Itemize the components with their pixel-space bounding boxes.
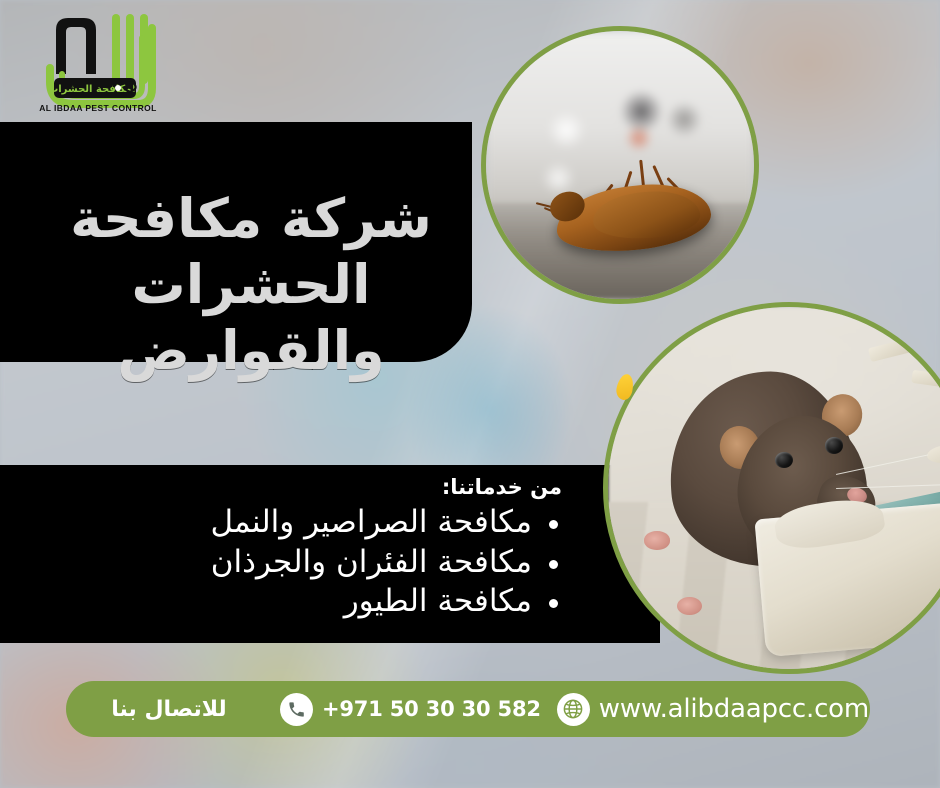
company-logo[interactable]: لمكافحة الحشرات AL IBDAA PEST CONTROL	[26, 8, 170, 120]
list-item: مكافحة الطيور	[0, 582, 562, 622]
logo-arabic-subtitle: لمكافحة الحشرات	[48, 84, 136, 95]
services-heading: من خدماتنا:	[0, 475, 598, 499]
cockroach-photo-circle	[481, 26, 759, 304]
services-content: من خدماتنا: مكافحة الصراصير والنمل مكافح…	[0, 465, 620, 643]
website-url: www.alibdaapcc.com	[599, 694, 869, 724]
phone-number: +971 50 30 30 582	[322, 697, 541, 721]
phone-contact[interactable]: +971 50 30 30 582	[280, 693, 541, 726]
logo-english-wordmark: AL IBDAA PEST CONTROL	[39, 103, 157, 113]
contact-bar: للاتصال بنا +971 50 30 30 582 www.alibda…	[66, 681, 870, 737]
calligraphy-logo-icon: لمكافحة الحشرات AL IBDAA PEST CONTROL	[26, 8, 170, 120]
list-item: مكافحة الفئران والجرذان	[0, 543, 562, 583]
website-contact[interactable]: www.alibdaapcc.com	[557, 693, 869, 726]
globe-icon	[557, 693, 590, 726]
contact-cta-label: للاتصال بنا	[84, 697, 264, 722]
phone-icon	[280, 693, 313, 726]
list-item: مكافحة الصراصير والنمل	[0, 503, 562, 543]
services-list: مكافحة الصراصير والنمل مكافحة الفئران وا…	[0, 503, 598, 622]
page-title: شركة مكافحة الحشرات والقوارض	[0, 186, 520, 384]
rat-photo-circle	[603, 302, 940, 674]
advertisement-poster: لمكافحة الحشرات AL IBDAA PEST CONTROL شر…	[0, 0, 940, 788]
